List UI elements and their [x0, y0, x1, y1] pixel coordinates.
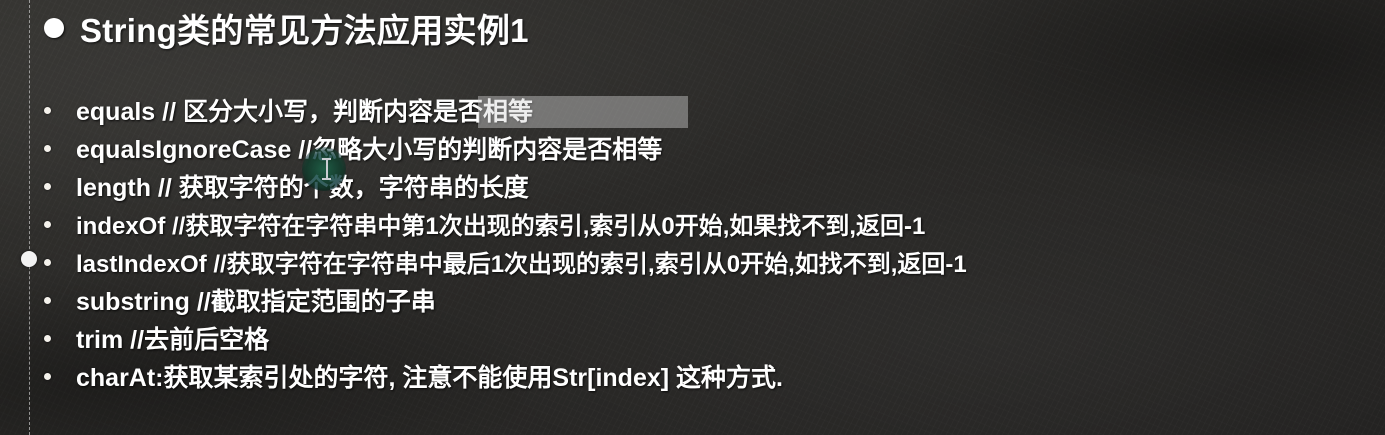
vertical-guide-line: [29, 0, 30, 435]
slide-canvas: String类的常见方法应用实例1 equals // 区分大小写，判断内容是否…: [0, 0, 1385, 435]
list-item-label: substring //截取指定范围的子串: [76, 282, 436, 318]
list-item[interactable]: trim //去前后空格: [44, 320, 1384, 358]
bullet-dot-icon: [44, 221, 51, 228]
bullet-dot-icon: [44, 107, 51, 114]
list-item[interactable]: lastIndexOf //获取字符在字符串中最后1次出现的索引,索引从0开始,…: [44, 244, 1384, 282]
list-item[interactable]: equals // 区分大小写，判断内容是否相等: [44, 92, 1384, 130]
list-item-label: length // 获取字符的个数，字符串的长度: [76, 168, 529, 204]
bullet-list: equals // 区分大小写，判断内容是否相等 equalsIgnoreCas…: [44, 92, 1384, 396]
bullet-dot-icon: [44, 183, 51, 190]
list-item[interactable]: indexOf //获取字符在字符串中第1次出现的索引,索引从0开始,如果找不到…: [44, 206, 1384, 244]
title-bullet-icon: [44, 18, 64, 38]
list-item-label: equalsIgnoreCase //忽略大小写的判断内容是否相等: [76, 130, 662, 166]
bullet-dot-icon: [44, 259, 51, 266]
chalk-streak: [940, 40, 1097, 74]
list-item[interactable]: charAt:获取某索引处的字符, 注意不能使用Str[index] 这种方式.: [44, 358, 1384, 396]
list-item-label: charAt:获取某索引处的字符, 注意不能使用Str[index] 这种方式.: [76, 358, 783, 394]
list-item[interactable]: equalsIgnoreCase //忽略大小写的判断内容是否相等: [44, 130, 1384, 168]
list-item-label: equals // 区分大小写，判断内容是否相等: [76, 92, 533, 128]
title-text: String类的常见方法应用实例1: [80, 4, 529, 52]
bullet-dot-icon: [44, 145, 51, 152]
bullet-dot-icon: [44, 297, 51, 304]
list-item-label: lastIndexOf //获取字符在字符串中最后1次出现的索引,索引从0开始,…: [76, 244, 967, 279]
bullet-dot-icon: [44, 373, 51, 380]
list-item[interactable]: substring //截取指定范围的子串: [44, 282, 1384, 320]
slide-title: String类的常见方法应用实例1: [44, 6, 529, 50]
guide-drag-handle[interactable]: [21, 251, 37, 267]
chalk-streak: [380, 415, 559, 435]
bullet-dot-icon: [44, 335, 51, 342]
list-item-label: trim //去前后空格: [76, 320, 269, 356]
list-item-label: indexOf //获取字符在字符串中第1次出现的索引,索引从0开始,如果找不到…: [76, 206, 925, 241]
list-item[interactable]: length // 获取字符的个数，字符串的长度: [44, 168, 1384, 206]
